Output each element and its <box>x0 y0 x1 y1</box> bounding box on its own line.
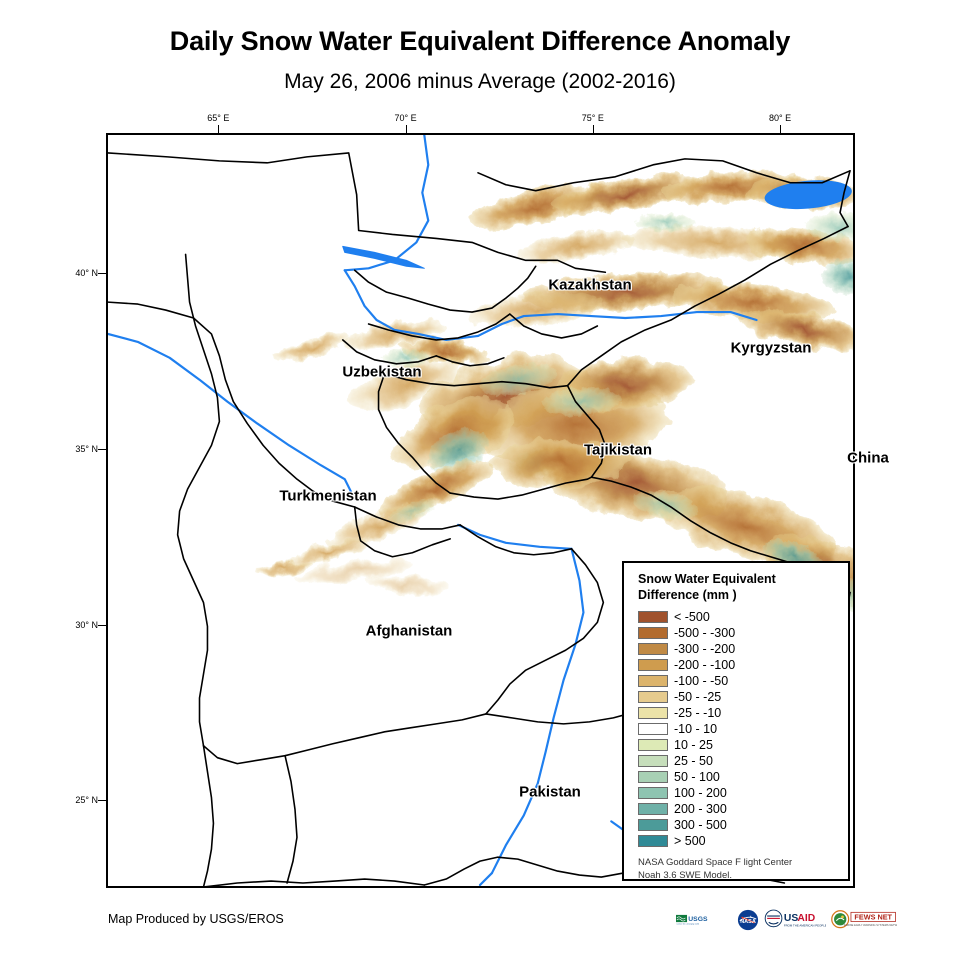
legend-class-list: < -500-500 - -300-300 - -200-200 - -100-… <box>638 609 848 849</box>
legend-swatch <box>638 819 668 831</box>
longitude-tick-mark <box>406 125 407 133</box>
latitude-tick-label: 25° N <box>60 795 98 805</box>
svg-text:NASA: NASA <box>740 919 756 925</box>
nasa-logo[interactable]: NASA <box>737 909 759 931</box>
legend-source-line2: Noah 3.6 SWE Model. <box>638 870 732 881</box>
country-label-pakistan: Pakistan <box>519 784 581 801</box>
legend-label: 10 - 25 <box>674 738 713 752</box>
longitude-tick-label: 80° E <box>769 113 791 123</box>
longitude-tick-mark <box>593 125 594 133</box>
logo-bar: USGS science for a changing world NASA U… <box>676 908 897 932</box>
country-label-kyrgyzstan: Kyrgyzstan <box>731 340 812 357</box>
legend-label: > 500 <box>674 834 706 848</box>
page-title: Daily Snow Water Equivalent Difference A… <box>0 26 960 57</box>
latitude-tick-mark <box>98 449 106 450</box>
legend-label: 300 - 500 <box>674 818 727 832</box>
legend-row: -25 - -10 <box>638 705 848 721</box>
country-label-turkmenistan: Turkmenistan <box>279 488 376 505</box>
legend-swatch <box>638 627 668 639</box>
legend-swatch <box>638 803 668 815</box>
legend-row: -300 - -200 <box>638 641 848 657</box>
legend-label: -10 - 10 <box>674 722 717 736</box>
legend-row: < -500 <box>638 609 848 625</box>
country-label-kazakhstan: Kazakhstan <box>548 277 631 294</box>
legend-source: NASA Goddard Space F light Center Noah 3… <box>638 857 838 882</box>
legend-swatch <box>638 755 668 767</box>
legend-label: -500 - -300 <box>674 626 735 640</box>
legend-row: -50 - -25 <box>638 689 848 705</box>
svg-text:AID: AID <box>797 913 815 924</box>
svg-text:FAMINE EARLY WARNING SYSTEMS N: FAMINE EARLY WARNING SYSTEMS NETWORK <box>844 923 897 927</box>
legend-source-line1: NASA Goddard Space F light Center <box>638 857 792 868</box>
legend-label: -50 - -25 <box>674 690 721 704</box>
legend-swatch <box>638 675 668 687</box>
longitude-tick-label: 75° E <box>582 113 604 123</box>
legend-swatch <box>638 611 668 623</box>
legend-row: 100 - 200 <box>638 785 848 801</box>
latitude-tick-mark <box>98 625 106 626</box>
svg-text:FROM THE AMERICAN PEOPLE: FROM THE AMERICAN PEOPLE <box>784 923 826 927</box>
legend-label: 200 - 300 <box>674 802 727 816</box>
legend-row: -10 - 10 <box>638 721 848 737</box>
longitude-tick-label: 65° E <box>207 113 229 123</box>
latitude-tick-mark <box>98 273 106 274</box>
svg-text:FEWS NET: FEWS NET <box>854 913 892 922</box>
legend-panel[interactable]: Snow Water Equivalent Difference (mm ) <… <box>622 561 850 881</box>
longitude-tick-label: 70° E <box>395 113 417 123</box>
legend-row: 10 - 25 <box>638 737 848 753</box>
legend-label: -200 - -100 <box>674 658 735 672</box>
longitude-tick-mark <box>780 125 781 133</box>
legend-row: > 500 <box>638 833 848 849</box>
fewsnet-logo[interactable]: FEWS NET FAMINE EARLY WARNING SYSTEMS NE… <box>831 909 897 931</box>
country-label-uzbekistan: Uzbekistan <box>342 364 421 381</box>
svg-text:science for a changing world: science for a changing world <box>676 924 698 926</box>
country-label-tajikistan: Tajikistan <box>584 442 652 459</box>
map-page: Daily Snow Water Equivalent Difference A… <box>0 0 960 960</box>
legend-title-line2: Difference (mm ) <box>638 588 737 602</box>
page-subtitle: May 26, 2006 minus Average (2002-2016) <box>0 70 960 94</box>
legend-row: 200 - 300 <box>638 801 848 817</box>
svg-text:US: US <box>784 913 798 924</box>
legend-label: -100 - -50 <box>674 674 728 688</box>
legend-label: -25 - -10 <box>674 706 721 720</box>
legend-title: Snow Water Equivalent Difference (mm ) <box>638 571 838 603</box>
svg-text:USGS: USGS <box>688 916 708 923</box>
legend-swatch <box>638 787 668 799</box>
latitude-tick-label: 40° N <box>60 268 98 278</box>
legend-label: 50 - 100 <box>674 770 720 784</box>
longitude-tick-mark <box>218 125 219 133</box>
legend-row: -500 - -300 <box>638 625 848 641</box>
legend-title-line1: Snow Water Equivalent <box>638 572 776 586</box>
legend-row: 50 - 100 <box>638 769 848 785</box>
legend-row: 300 - 500 <box>638 817 848 833</box>
country-label-afghanistan: Afghanistan <box>366 623 453 640</box>
map-credit: Map Produced by USGS/EROS <box>108 912 284 926</box>
legend-swatch <box>638 723 668 735</box>
latitude-tick-label: 30° N <box>60 620 98 630</box>
legend-row: -100 - -50 <box>638 673 848 689</box>
legend-swatch <box>638 835 668 847</box>
legend-swatch <box>638 643 668 655</box>
country-label-china: China <box>847 450 889 467</box>
legend-label: < -500 <box>674 610 710 624</box>
legend-swatch <box>638 771 668 783</box>
legend-swatch <box>638 739 668 751</box>
latitude-tick-label: 35° N <box>60 444 98 454</box>
latitude-tick-mark <box>98 800 106 801</box>
legend-swatch <box>638 691 668 703</box>
legend-label: -300 - -200 <box>674 642 735 656</box>
swe-anomaly-raster <box>251 165 853 627</box>
legend-row: -200 - -100 <box>638 657 848 673</box>
legend-label: 100 - 200 <box>674 786 727 800</box>
usgs-logo[interactable]: USGS science for a changing world <box>676 909 732 931</box>
legend-row: 25 - 50 <box>638 753 848 769</box>
usaid-logo[interactable]: US AID FROM THE AMERICAN PEOPLE <box>764 909 826 931</box>
legend-label: 25 - 50 <box>674 754 713 768</box>
legend-swatch <box>638 707 668 719</box>
legend-swatch <box>638 659 668 671</box>
